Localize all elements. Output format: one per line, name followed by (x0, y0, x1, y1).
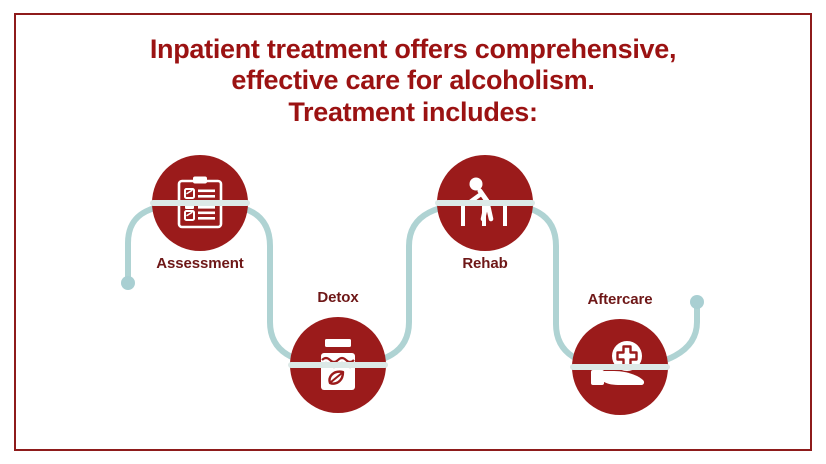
treatment-flow-diagram: Assessment Detox (0, 0, 826, 464)
flow-step-aftercare[interactable]: Aftercare (572, 319, 668, 415)
flow-step-rehab[interactable]: Rehab (437, 155, 533, 251)
clipboard-checklist-icon (174, 175, 226, 231)
flow-step-label-assessment: Assessment (156, 255, 243, 272)
assessment-icon-circle[interactable] (152, 155, 248, 251)
detox-icon-circle[interactable] (290, 317, 386, 413)
connector-end-dot (690, 295, 704, 309)
parallel-bars-therapy-icon (456, 175, 514, 231)
flow-connector-path (0, 0, 826, 464)
infographic-canvas: Inpatient treatment offers comprehensive… (0, 0, 826, 464)
flow-step-detox[interactable]: Detox (290, 317, 386, 413)
flow-step-label-rehab: Rehab (462, 255, 507, 272)
flow-step-label-detox: Detox (317, 289, 358, 306)
connector-start-dot (121, 276, 135, 290)
hand-medical-cross-icon (589, 340, 651, 394)
aftercare-icon-circle[interactable] (572, 319, 668, 415)
rehab-icon-circle[interactable] (437, 155, 533, 251)
flow-step-label-aftercare: Aftercare (588, 291, 653, 308)
supplement-bottle-leaf-icon (313, 337, 363, 393)
flow-step-assessment[interactable]: Assessment (152, 155, 248, 251)
